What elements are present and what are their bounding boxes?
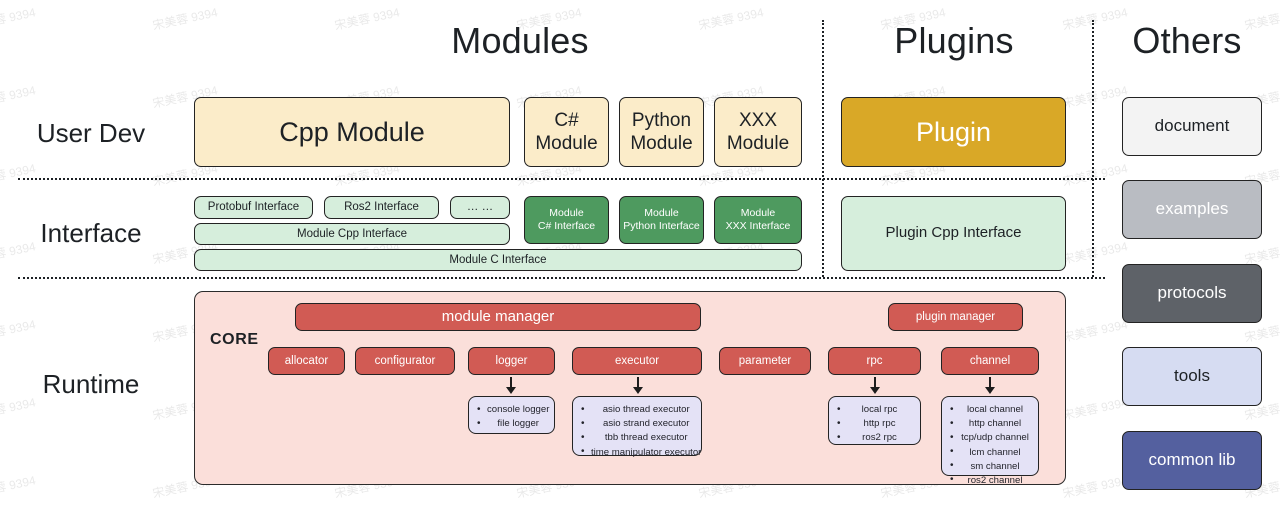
column-header-plugins: Plugins — [854, 20, 1054, 62]
watermark-text: 宋美蓉 9394 — [0, 3, 37, 33]
watermark-text: 宋美蓉 9394 — [0, 471, 37, 501]
watermark-text: 宋美蓉 9394 — [1061, 237, 1129, 267]
box-rpc[interactable]: rpc — [828, 347, 921, 375]
executor-detail-item: asio thread executor — [580, 403, 701, 417]
row-label-interface: Interface — [8, 218, 174, 249]
box-csharp-module-line1: C# — [535, 109, 597, 132]
horizontal-divider-interface-runtime — [18, 277, 1105, 279]
box-plugin[interactable]: Plugin — [841, 97, 1066, 167]
box-cpp-module-label: Cpp Module — [279, 116, 425, 149]
box-executor-details: asio thread executor asio strand executo… — [572, 396, 702, 456]
box-xxx-module[interactable]: XXX Module — [714, 97, 802, 167]
box-xxx-module-line2: Module — [727, 132, 789, 155]
channel-detail-item: sm channel — [949, 460, 1030, 474]
box-logger-details: console logger file logger — [468, 396, 555, 434]
box-python-module[interactable]: Python Module — [619, 97, 704, 167]
watermark-text: 宋美蓉 9394 — [1061, 471, 1129, 501]
channel-detail-list: local channel http channel tcp/udp chann… — [942, 397, 1038, 494]
box-module-python-interface[interactable]: Module Python Interface — [619, 196, 704, 244]
arrow-rpc-to-details — [868, 377, 882, 394]
arrow-executor-to-details — [631, 377, 645, 394]
box-module-manager-label: module manager — [442, 308, 555, 326]
box-protobuf-interface[interactable]: Protobuf Interface — [194, 196, 313, 219]
box-allocator-label: allocator — [285, 354, 328, 368]
box-rpc-label: rpc — [867, 354, 883, 368]
box-plugin-label: Plugin — [916, 116, 991, 149]
executor-detail-item: time manipulator executor — [580, 446, 701, 460]
box-document[interactable]: document — [1122, 97, 1262, 156]
column-header-modules: Modules — [380, 20, 660, 62]
watermark-text: 宋美蓉 9394 — [0, 81, 37, 111]
box-python-module-line1: Python — [630, 109, 692, 132]
watermark-text: 宋美蓉 9394 — [0, 315, 37, 345]
rpc-detail-item: http rpc — [836, 417, 912, 431]
box-tools[interactable]: tools — [1122, 347, 1262, 406]
box-module-c-interface-label: Module C Interface — [449, 253, 546, 267]
channel-detail-item: local channel — [949, 403, 1030, 417]
executor-detail-item: asio strand executor — [580, 417, 701, 431]
box-module-xxx-interface-line1: Module — [726, 207, 791, 220]
box-module-csharp-interface-line2: C# Interface — [538, 220, 595, 233]
logger-detail-list: console logger file logger — [469, 397, 557, 437]
core-label: CORE — [210, 331, 259, 349]
box-plugin-manager[interactable]: plugin manager — [888, 303, 1023, 331]
watermark-text: 宋美蓉 9394 — [697, 3, 765, 33]
watermark-text: 宋美蓉 9394 — [151, 3, 219, 33]
row-label-user-dev: User Dev — [8, 118, 174, 149]
box-examples-label: examples — [1156, 199, 1229, 220]
box-document-label: document — [1155, 116, 1230, 137]
box-plugin-cpp-interface[interactable]: Plugin Cpp Interface — [841, 196, 1066, 271]
box-module-python-interface-line1: Module — [623, 207, 699, 220]
box-channel-label: channel — [970, 354, 1010, 368]
box-protobuf-interface-label: Protobuf Interface — [208, 200, 299, 214]
rpc-detail-item: local rpc — [836, 403, 912, 417]
channel-detail-item: http channel — [949, 417, 1030, 431]
box-allocator[interactable]: allocator — [268, 347, 345, 375]
box-channel-details: local channel http channel tcp/udp chann… — [941, 396, 1039, 476]
box-more-interface-label: … … — [467, 200, 493, 214]
box-parameter-label: parameter — [739, 354, 791, 368]
box-module-manager[interactable]: module manager — [295, 303, 701, 331]
box-logger-label: logger — [496, 354, 528, 368]
box-tools-label: tools — [1174, 366, 1210, 387]
box-module-xxx-interface[interactable]: Module XXX Interface — [714, 196, 802, 244]
box-channel[interactable]: channel — [941, 347, 1039, 375]
box-module-xxx-interface-line2: XXX Interface — [726, 220, 791, 233]
row-label-runtime: Runtime — [8, 369, 174, 400]
box-protocols-label: protocols — [1158, 283, 1227, 304]
box-ros2-interface[interactable]: Ros2 Interface — [324, 196, 439, 219]
executor-detail-item: tbb thread executor — [580, 431, 701, 445]
rpc-detail-list: local rpc http rpc ros2 rpc — [829, 397, 920, 452]
box-csharp-module[interactable]: C# Module — [524, 97, 609, 167]
watermark-text: 宋美蓉 9394 — [1061, 315, 1129, 345]
column-header-others: Others — [1097, 20, 1277, 62]
box-module-cpp-interface[interactable]: Module Cpp Interface — [194, 223, 510, 245]
rpc-detail-item: ros2 rpc — [836, 431, 912, 445]
box-module-cpp-interface-label: Module Cpp Interface — [297, 227, 407, 241]
box-configurator[interactable]: configurator — [355, 347, 455, 375]
arrow-channel-to-details — [983, 377, 997, 394]
diagram-canvas: 宋美蓉 9394宋美蓉 9394宋美蓉 9394宋美蓉 9394宋美蓉 9394… — [0, 0, 1280, 519]
box-module-python-interface-line2: Python Interface — [623, 220, 699, 233]
watermark-text: 宋美蓉 9394 — [1061, 393, 1129, 423]
channel-detail-item: lcm channel — [949, 446, 1030, 460]
box-configurator-label: configurator — [375, 354, 436, 368]
horizontal-divider-userdev-interface — [18, 178, 1105, 180]
box-common-lib[interactable]: common lib — [1122, 431, 1262, 490]
vertical-divider-plugins-others — [1092, 20, 1094, 277]
box-cpp-module[interactable]: Cpp Module — [194, 97, 510, 167]
logger-detail-item: console logger — [476, 403, 549, 417]
box-more-interface[interactable]: … … — [450, 196, 510, 219]
channel-detail-item: ros2 channel — [949, 474, 1030, 488]
box-xxx-module-line1: XXX — [727, 109, 789, 132]
watermark-text: 宋美蓉 9394 — [0, 159, 37, 189]
box-executor[interactable]: executor — [572, 347, 702, 375]
box-plugin-cpp-interface-label: Plugin Cpp Interface — [886, 224, 1022, 242]
box-protocols[interactable]: protocols — [1122, 264, 1262, 323]
box-plugin-manager-label: plugin manager — [916, 310, 995, 324]
vertical-divider-modules-plugins — [822, 20, 824, 277]
executor-detail-list: asio thread executor asio strand executo… — [573, 397, 709, 466]
box-rpc-details: local rpc http rpc ros2 rpc — [828, 396, 921, 445]
box-examples[interactable]: examples — [1122, 180, 1262, 239]
channel-detail-item: tcp/udp channel — [949, 431, 1030, 445]
box-python-module-line2: Module — [630, 132, 692, 155]
box-parameter[interactable]: parameter — [719, 347, 811, 375]
box-module-csharp-interface-line1: Module — [538, 207, 595, 220]
box-common-lib-label: common lib — [1149, 450, 1236, 471]
arrow-logger-to-details — [504, 377, 518, 394]
box-ros2-interface-label: Ros2 Interface — [344, 200, 419, 214]
box-logger[interactable]: logger — [468, 347, 555, 375]
box-module-csharp-interface[interactable]: Module C# Interface — [524, 196, 609, 244]
box-module-c-interface[interactable]: Module C Interface — [194, 249, 802, 271]
watermark-text: 宋美蓉 9394 — [1061, 81, 1129, 111]
logger-detail-item: file logger — [476, 417, 549, 431]
box-csharp-module-line2: Module — [535, 132, 597, 155]
box-executor-label: executor — [615, 354, 659, 368]
watermark-text: 宋美蓉 9394 — [1061, 159, 1129, 189]
